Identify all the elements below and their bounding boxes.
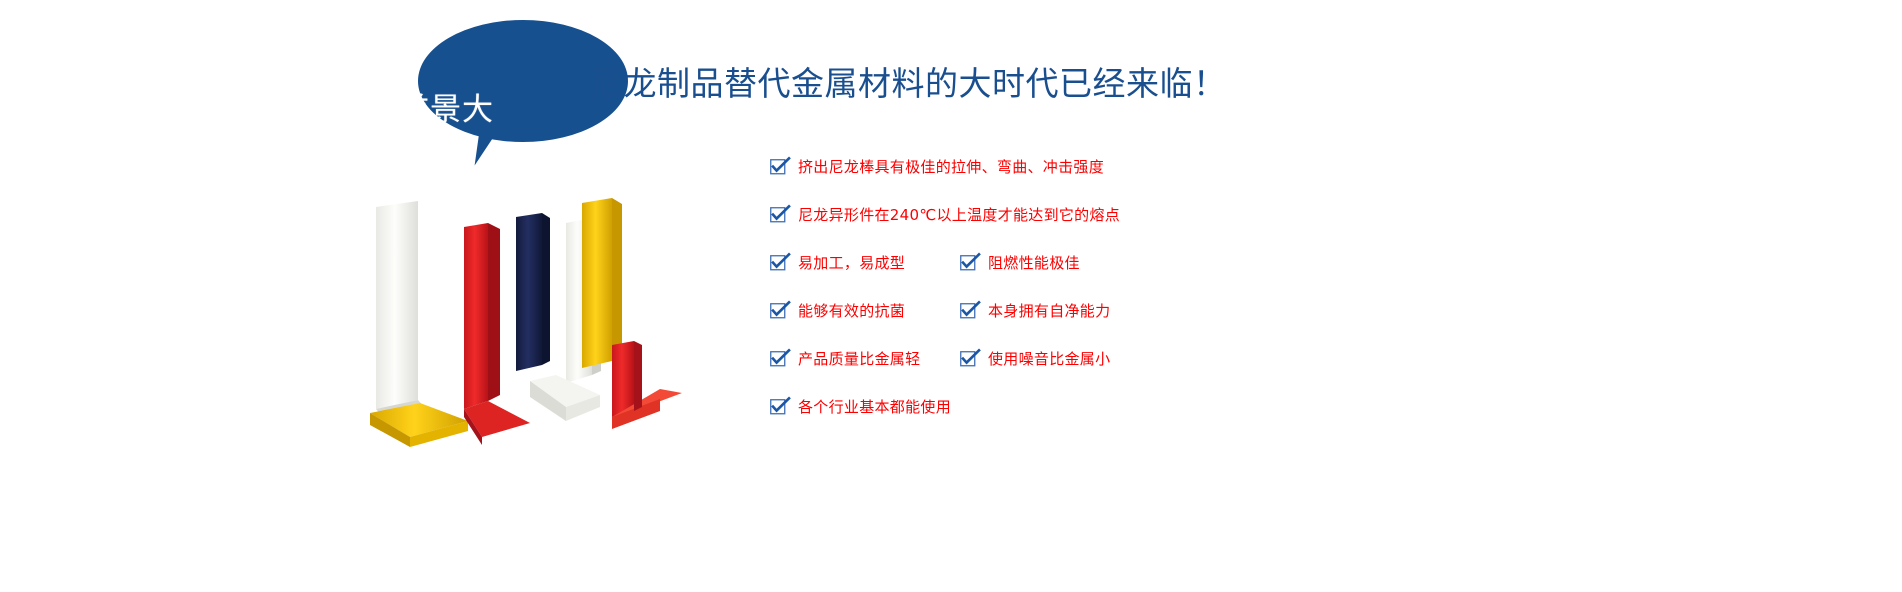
feature-item[interactable]: 使用噪音比金属小 <box>960 350 1110 368</box>
feature-item[interactable]: 阻燃性能极佳 <box>960 254 1080 272</box>
feature-row: 易加工，易成型 阻燃性能极佳 <box>770 254 1470 302</box>
feature-item[interactable]: 产品质量比金属轻 <box>770 350 920 368</box>
speech-bubble-line-2: 前景大 <box>398 84 494 129</box>
feature-row: 各个行业基本都能使用 <box>770 398 1470 446</box>
feature-item[interactable]: 尼龙异形件在240℃以上温度才能达到它的熔点 <box>770 206 1120 224</box>
feature-row: 尼龙异形件在240℃以上温度才能达到它的熔点 <box>770 206 1470 254</box>
page-headline: 尼龙制品替代金属材料的大时代已经来临！ <box>590 57 1227 105</box>
feature-text: 阻燃性能极佳 <box>988 254 1080 272</box>
feature-text: 本身拥有自净能力 <box>988 302 1110 320</box>
checkbox-checked-icon <box>770 206 788 224</box>
checkbox-checked-icon <box>770 158 788 176</box>
feature-text: 各个行业基本都能使用 <box>798 398 951 416</box>
feature-item[interactable]: 易加工，易成型 <box>770 254 905 272</box>
feature-list: 挤出尼龙棒具有极佳的拉伸、弯曲、冲击强度 尼龙异形件在240℃以上温度才能达到它… <box>770 158 1470 446</box>
feature-item[interactable]: 能够有效的抗菌 <box>770 302 905 320</box>
feature-row: 挤出尼龙棒具有极佳的拉伸、弯曲、冲击强度 <box>770 158 1470 206</box>
feature-row: 产品质量比金属轻 使用噪音比金属小 <box>770 350 1470 398</box>
nylon-profiles-illustration <box>360 185 710 460</box>
checkbox-checked-icon <box>960 350 978 368</box>
product-photo <box>360 185 710 460</box>
feature-item[interactable]: 挤出尼龙棒具有极佳的拉伸、弯曲、冲击强度 <box>770 158 1104 176</box>
checkbox-checked-icon <box>770 350 788 368</box>
checkbox-checked-icon <box>960 302 978 320</box>
feature-row: 能够有效的抗菌 本身拥有自净能力 <box>770 302 1470 350</box>
feature-text: 能够有效的抗菌 <box>798 302 905 320</box>
checkbox-checked-icon <box>770 398 788 416</box>
speech-bubble: 发展 前景大 <box>333 12 603 162</box>
feature-item[interactable]: 本身拥有自净能力 <box>960 302 1110 320</box>
feature-text: 产品质量比金属轻 <box>798 350 920 368</box>
feature-text: 挤出尼龙棒具有极佳的拉伸、弯曲、冲击强度 <box>798 158 1104 176</box>
checkbox-checked-icon <box>770 302 788 320</box>
feature-item[interactable]: 各个行业基本都能使用 <box>770 398 951 416</box>
checkbox-checked-icon <box>770 254 788 272</box>
feature-text: 尼龙异形件在240℃以上温度才能达到它的熔点 <box>798 206 1120 224</box>
feature-text: 使用噪音比金属小 <box>988 350 1110 368</box>
checkbox-checked-icon <box>960 254 978 272</box>
feature-text: 易加工，易成型 <box>798 254 905 272</box>
